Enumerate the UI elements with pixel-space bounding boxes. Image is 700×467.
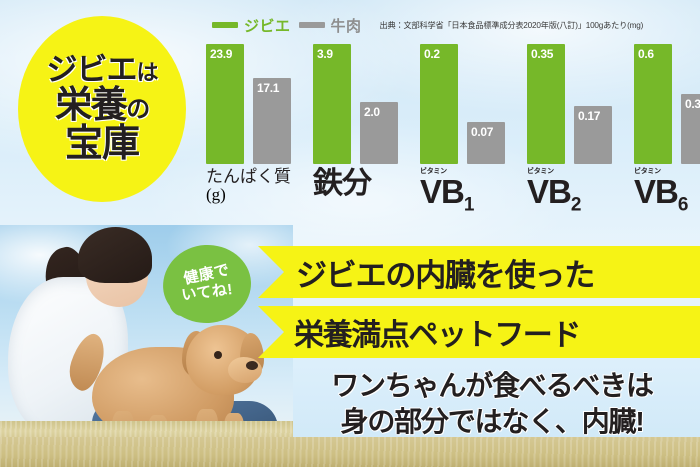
category-main-text: VB2 (527, 173, 580, 210)
ribbon-banner-1-text: ジビエの内臓を使った (296, 250, 594, 295)
bar-gibier: 3.9 (313, 44, 351, 164)
chart-legend: ジビエ 牛肉 出典：文部科学省「日本食品標準成分表2020年版(八訂)」100g… (196, 14, 696, 36)
advertisement-canvas: ジビエは 栄養の 宝庫 ジビエ 牛肉 出典：文部科学省「日本食品標準成分表202… (0, 0, 700, 467)
category-main-text: たんぱく質 (206, 168, 291, 186)
category-main-text: VB6 (634, 173, 687, 210)
badge-line-1-suffix: は (136, 60, 157, 85)
category-subscript: 1 (464, 195, 474, 216)
badge-line-2-main: 栄養 (55, 84, 126, 125)
dog-nose (246, 361, 258, 370)
nutrition-bar-chart: ジビエ 牛肉 出典：文部科学省「日本食品標準成分表2020年版(八訂)」100g… (196, 14, 696, 226)
bar-value-label: 0.35 (531, 47, 553, 61)
ribbon-banner-2-text: 栄養満点ペットフード (294, 310, 580, 354)
bar-value-label: 17.1 (257, 81, 279, 95)
bar-value-label: 3.9 (317, 47, 333, 61)
category-label: ビタミンVB2 (527, 168, 612, 215)
category-label: たんぱく質(g) (206, 168, 291, 215)
bar-value-label: 23.9 (210, 47, 232, 61)
legend-item-gibier: ジビエ (212, 15, 291, 36)
bar-group: 0.20.07 (420, 44, 505, 164)
category-subscript: 6 (678, 195, 688, 216)
bar-value-label: 0.2 (424, 47, 440, 61)
chart-bar-groups: 23.917.13.92.00.20.070.350.170.60.35 (196, 44, 696, 164)
legend-swatch-icon (212, 22, 238, 28)
category-sub-text: (g) (206, 186, 291, 204)
bar-group: 3.92.0 (313, 44, 398, 164)
tagline-line-2: 身の部分ではなく、内臓! (292, 404, 692, 440)
category-label: ビタミンVB6 (634, 168, 700, 215)
bar-gibier: 0.6 (634, 44, 672, 164)
badge-line-2-suffix: の (126, 96, 149, 123)
bar-value-label: 0.17 (578, 109, 600, 123)
bar-gibier: 23.9 (206, 44, 244, 164)
headline-badge: ジビエは 栄養の 宝庫 (18, 16, 186, 202)
legend-item-beef: 牛肉 (299, 15, 362, 36)
badge-line-3: 宝庫 (65, 125, 139, 165)
ribbon-banner-1: ジビエの内臓を使った (258, 246, 700, 298)
photo-woman-with-dog (0, 225, 293, 467)
badge-line-1-main: ジビエ (46, 52, 136, 87)
grass-strip (0, 437, 700, 467)
bar-beef: 17.1 (253, 78, 291, 164)
bar-group: 0.350.17 (527, 44, 612, 164)
chart-source-note: 出典：文部科学省「日本食品標準成分表2020年版(八訂)」100gあたり(mg) (380, 19, 644, 31)
dog-eye (214, 351, 222, 359)
bar-value-label: 0.07 (471, 125, 493, 139)
woman-hair (78, 227, 152, 283)
legend-label-beef: 牛肉 (331, 15, 362, 36)
tagline-line-1: ワンちゃんが食べるべきは (292, 368, 692, 404)
bar-gibier: 0.2 (420, 44, 458, 164)
bar-value-label: 0.35 (685, 97, 700, 111)
bar-beef: 0.35 (681, 94, 700, 164)
badge-line-1: ジビエは (46, 54, 157, 87)
bar-beef: 0.17 (574, 106, 612, 164)
bar-value-label: 0.6 (638, 47, 654, 61)
bar-group: 23.917.1 (206, 44, 291, 164)
bar-value-label: 2.0 (364, 105, 380, 119)
category-subscript: 2 (571, 195, 581, 216)
badge-line-2: 栄養の (55, 86, 149, 124)
category-main-text: VB1 (420, 173, 473, 210)
legend-label-gibier: ジビエ (244, 15, 291, 36)
bar-group: 0.60.35 (634, 44, 700, 164)
dog-snout (228, 357, 262, 383)
ribbon-banner-2: 栄養満点ペットフード (258, 306, 700, 358)
bar-beef: 2.0 (360, 102, 398, 164)
legend-swatch-icon (299, 22, 325, 28)
category-label: ビタミンVB1 (420, 168, 505, 215)
bar-gibier: 0.35 (527, 44, 565, 164)
bubble-line-2: いてね! (181, 282, 234, 305)
chart-category-labels: たんぱく質(g)鉄分ビタミンVB1ビタミンVB2ビタミンVB6 (196, 168, 696, 215)
category-main-text: 鉄分 (313, 168, 398, 200)
category-label: 鉄分 (313, 168, 398, 215)
bar-beef: 0.07 (467, 122, 505, 164)
tagline-block: ワンちゃんが食べるべきは 身の部分ではなく、内臓! (292, 368, 692, 440)
